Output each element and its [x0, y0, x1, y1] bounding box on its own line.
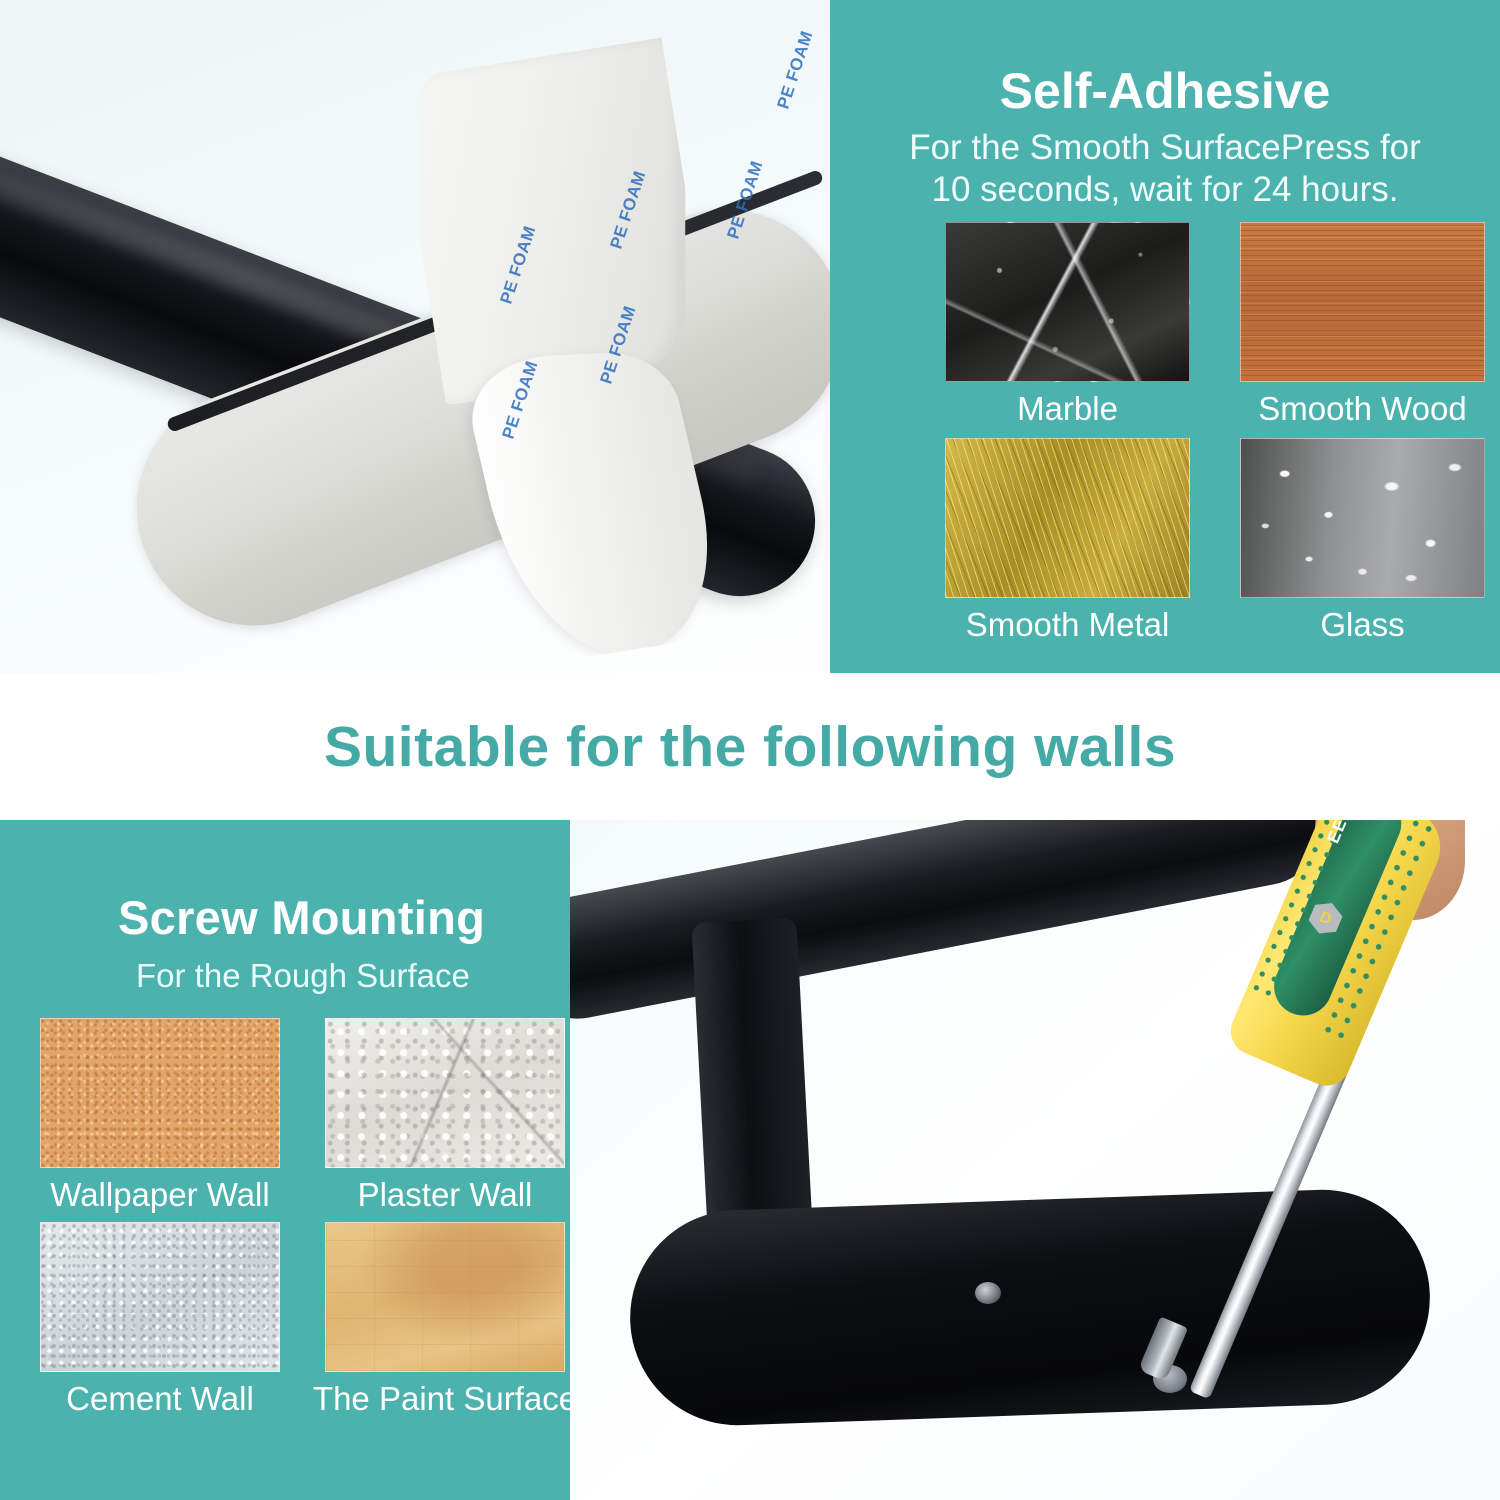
wall-swatch-cement: Cement Wall — [40, 1222, 280, 1418]
surface-swatch-marble: Marble — [945, 222, 1190, 428]
surface-label: Smooth Metal — [966, 606, 1170, 644]
liner-upper — [421, 38, 686, 410]
adhesive-subtitle-line1: For the Smooth SurfacePress for — [885, 128, 1445, 168]
paint-texture-image — [325, 1222, 565, 1372]
surface-label: Smooth Wood — [1258, 390, 1467, 428]
surface-swatch-glass: Glass — [1240, 438, 1485, 644]
grab-bar-post — [691, 917, 813, 1252]
surface-label: Glass — [1320, 606, 1404, 644]
screw-mounting-title: Screw Mounting — [118, 890, 485, 945]
screw-mounting-photo: EEAWVA D — [570, 820, 1500, 1500]
screw-mounting-text-block: Screw Mounting For the Rough Surface — [118, 890, 485, 995]
grab-bar-rail — [570, 820, 1334, 1029]
surface-swatch-smooth-wood: Smooth Wood — [1240, 222, 1485, 428]
surface-label: Marble — [1017, 390, 1118, 428]
cement-texture-image — [40, 1222, 280, 1372]
self-adhesive-section: PE FOAM PE FOAM PE FOAM PE FOAM PE FOAM … — [0, 0, 1500, 673]
pe-foam-label: PE FOAM — [773, 28, 817, 111]
wall-swatch-wallpaper: Wallpaper Wall — [40, 1018, 280, 1214]
wall-label: Wallpaper Wall — [50, 1176, 269, 1214]
smooth-surface-swatches: Marble Smooth Wood Smooth Metal Glass — [945, 222, 1485, 644]
surface-swatch-smooth-metal: Smooth Metal — [945, 438, 1190, 644]
liner-curl — [457, 350, 735, 658]
wall-swatch-plaster: Plaster Wall — [325, 1018, 565, 1214]
adhesive-subtitle-line2: 10 seconds, wait for 24 hours. — [885, 170, 1445, 210]
glass-texture-image — [1240, 438, 1485, 598]
adhesive-title: Self-Adhesive — [885, 62, 1445, 120]
wall-label: The Paint Surface — [313, 1380, 577, 1418]
wall-label: Cement Wall — [66, 1380, 254, 1418]
suitable-walls-banner: Suitable for the following walls — [0, 673, 1500, 820]
wall-swatch-paint: The Paint Surface — [325, 1222, 565, 1418]
wood-texture-image — [1240, 222, 1485, 382]
adhesive-product-photo: PE FOAM PE FOAM PE FOAM PE FOAM PE FOAM … — [0, 0, 940, 673]
wall-label: Plaster Wall — [358, 1176, 533, 1214]
wallpaper-texture-image — [40, 1018, 280, 1168]
pe-foam-liner — [395, 38, 756, 673]
product-infographic: PE FOAM PE FOAM PE FOAM PE FOAM PE FOAM … — [0, 0, 1500, 1500]
screw-mounting-section: EEAWVA D Screw Mounting For the Rough Su… — [0, 820, 1500, 1500]
rough-wall-swatches: Wallpaper Wall Plaster Wall Cement Wall … — [40, 1018, 570, 1418]
metal-texture-image — [945, 438, 1190, 598]
grab-bar-base-plate — [626, 1186, 1433, 1429]
screw-hole — [975, 1282, 1001, 1304]
screw-mounting-subtitle: For the Rough Surface — [136, 957, 485, 995]
plaster-texture-image — [325, 1018, 565, 1168]
marble-texture-image — [945, 222, 1190, 382]
banner-title: Suitable for the following walls — [324, 714, 1176, 780]
